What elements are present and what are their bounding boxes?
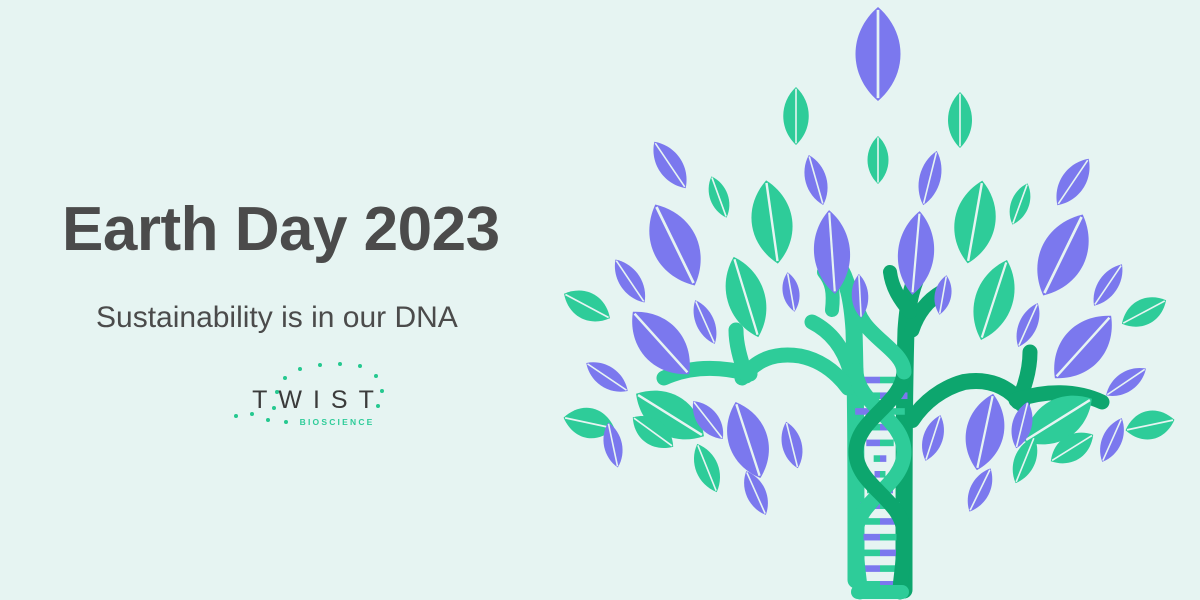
leaf-icon [703,173,735,221]
leaf-icon [635,195,715,296]
leaf-icon [746,178,798,267]
leaf-icon [580,354,633,399]
logo-dot-4 [374,374,378,378]
leaf-icon [1004,180,1036,228]
headline-block: Earth Day 2023 Sustainability is in our … [0,0,600,600]
dna-rung-right [880,440,894,447]
earth-day-banner: Earth Day 2023 Sustainability is in our … [0,0,1200,600]
leaf-icon [1116,289,1172,335]
leaf-icon [1123,406,1178,444]
leaf-icon [1047,152,1098,212]
page-title: Earth Day 2023 [62,199,500,261]
leaf-icon [948,177,1002,267]
dna-rung-left [874,455,880,462]
leaf-icon [963,254,1025,345]
leaf-icon [560,282,616,330]
leaf-icon [959,390,1012,474]
logo-dot-0 [358,364,362,368]
leaf-icon [1010,299,1046,350]
leaf-icon [1039,302,1126,393]
leaf-icon [948,92,972,148]
logo-dot-12 [266,418,270,422]
logo-dot-2 [318,363,322,367]
leaf-icon [894,210,937,297]
leaf-icon [687,296,723,347]
page-subtitle: Sustainability is in our DNA [96,303,458,333]
logo-tagline: BIOSCIENCE [286,418,386,427]
leaf-icon [716,251,776,342]
leaf-icon [777,419,808,470]
leaf-icon [961,464,1000,516]
leaf-icon [687,440,727,497]
leaf-icon [868,136,889,184]
dna-rung-left [866,440,880,447]
dna-tree-illustration [560,0,1200,600]
logo-dot-11 [234,414,238,418]
leaf-icon [1101,360,1152,403]
dna-rung-right [880,455,886,462]
leaf-icon [1023,205,1103,306]
leaf-icon [856,7,901,101]
leaf-icon [644,135,695,195]
leaf-icon [1093,414,1130,466]
logo-dot-1 [338,362,342,366]
leaf-icon [607,254,653,309]
leaf-icon [913,148,947,207]
dna-rung-left [875,471,880,478]
leaf-icon [799,152,834,208]
leaf-icon [779,271,802,313]
logo-dot-5 [283,376,287,380]
leaf-icon [1086,259,1130,311]
logo-wordmark: TWIST [236,388,390,413]
leaf-icon [783,87,809,145]
dna-rung-right [880,471,885,478]
twist-bioscience-logo: TWIST BIOSCIENCE [228,362,398,434]
leaf-icon [931,274,954,316]
leaf-icon [717,396,779,484]
logo-dot-3 [298,367,302,371]
